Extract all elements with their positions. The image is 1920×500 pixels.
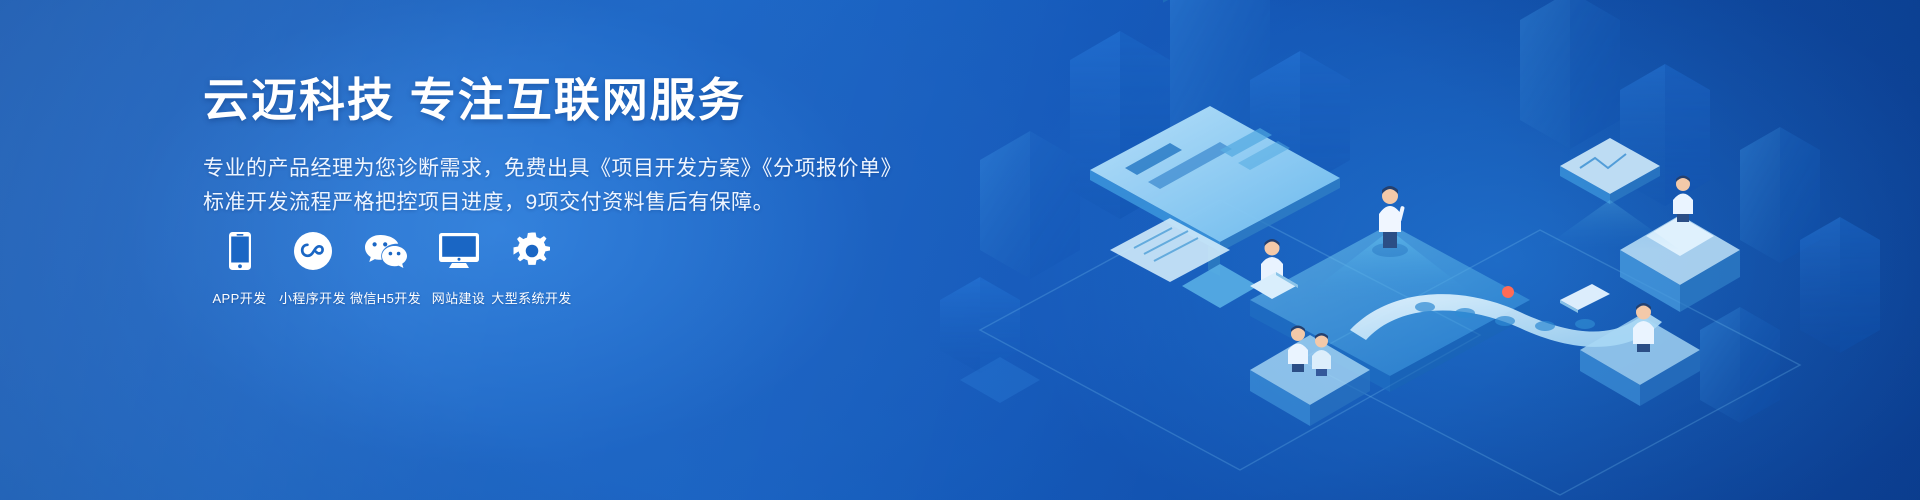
monitor-icon xyxy=(438,228,480,274)
page-title: 云迈科技 专注互联网服务 xyxy=(203,72,923,130)
service-item-website[interactable]: 网站建设 xyxy=(422,228,495,307)
illustration-artwork xyxy=(920,0,1920,500)
wechat-icon xyxy=(363,228,409,274)
service-label: 大型系统开发 xyxy=(491,288,571,307)
hero-banner: 云迈科技 专注互联网服务 专业的产品经理为您诊断需求，免费出具《项目开发方案》《… xyxy=(0,0,1920,500)
service-item-mini-program[interactable]: 小程序开发 xyxy=(276,228,349,307)
service-label: 小程序开发 xyxy=(279,288,346,307)
subtitle-line-2: 标准开发流程严格把控项目进度，9项交付资料售后有保障。 xyxy=(203,186,923,220)
service-label: 微信H5开发 xyxy=(350,288,421,307)
gear-icon xyxy=(512,228,552,274)
service-item-app[interactable]: APP开发 xyxy=(203,228,276,307)
service-item-wechat-h5[interactable]: 微信H5开发 xyxy=(349,228,422,307)
service-list: APP开发 小程序开发 微信 xyxy=(203,228,568,307)
mobile-phone-icon xyxy=(228,228,252,274)
hero-copy: 云迈科技 专注互联网服务 专业的产品经理为您诊断需求，免费出具《项目开发方案》《… xyxy=(203,72,923,220)
subtitle-line-1: 专业的产品经理为您诊断需求，免费出具《项目开发方案》《分项报价单》 xyxy=(203,152,923,186)
service-label: APP开发 xyxy=(212,288,266,307)
service-item-large-system[interactable]: 大型系统开发 xyxy=(495,228,568,307)
mini-program-icon xyxy=(293,228,333,274)
service-label: 网站建设 xyxy=(432,288,486,307)
